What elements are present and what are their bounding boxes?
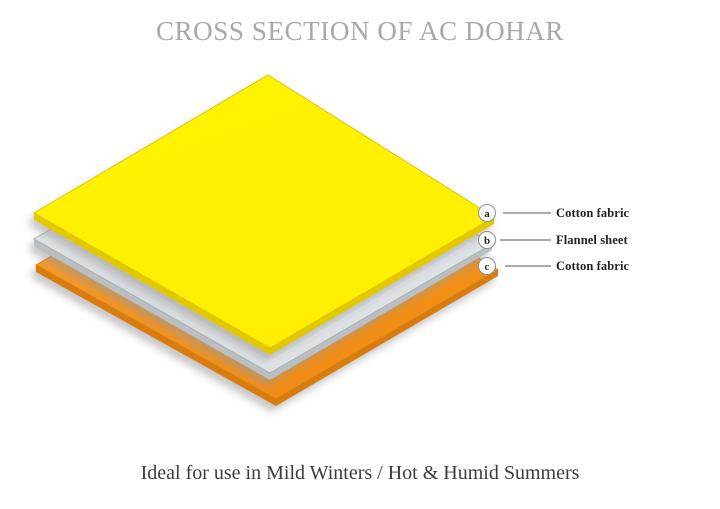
marker-badge-c-letter: c: [485, 261, 490, 273]
callout-label-c: Cotton fabric: [556, 259, 629, 274]
layer-stack-illustration: a b c: [0, 0, 720, 509]
marker-badge-b-letter: b: [484, 235, 490, 247]
marker-badge-b[interactable]: b: [479, 232, 496, 249]
page-caption: Ideal for use in Mild Winters / Hot & Hu…: [0, 462, 720, 485]
cross-section-diagram: CROSS SECTION OF AC DOHAR: [0, 0, 720, 509]
marker-badge-a[interactable]: a: [479, 205, 496, 222]
marker-badge-a-letter: a: [484, 208, 490, 220]
callout-label-b: Flannel sheet: [556, 233, 628, 248]
marker-badge-c[interactable]: c: [479, 258, 496, 275]
callout-label-a: Cotton fabric: [556, 206, 629, 221]
